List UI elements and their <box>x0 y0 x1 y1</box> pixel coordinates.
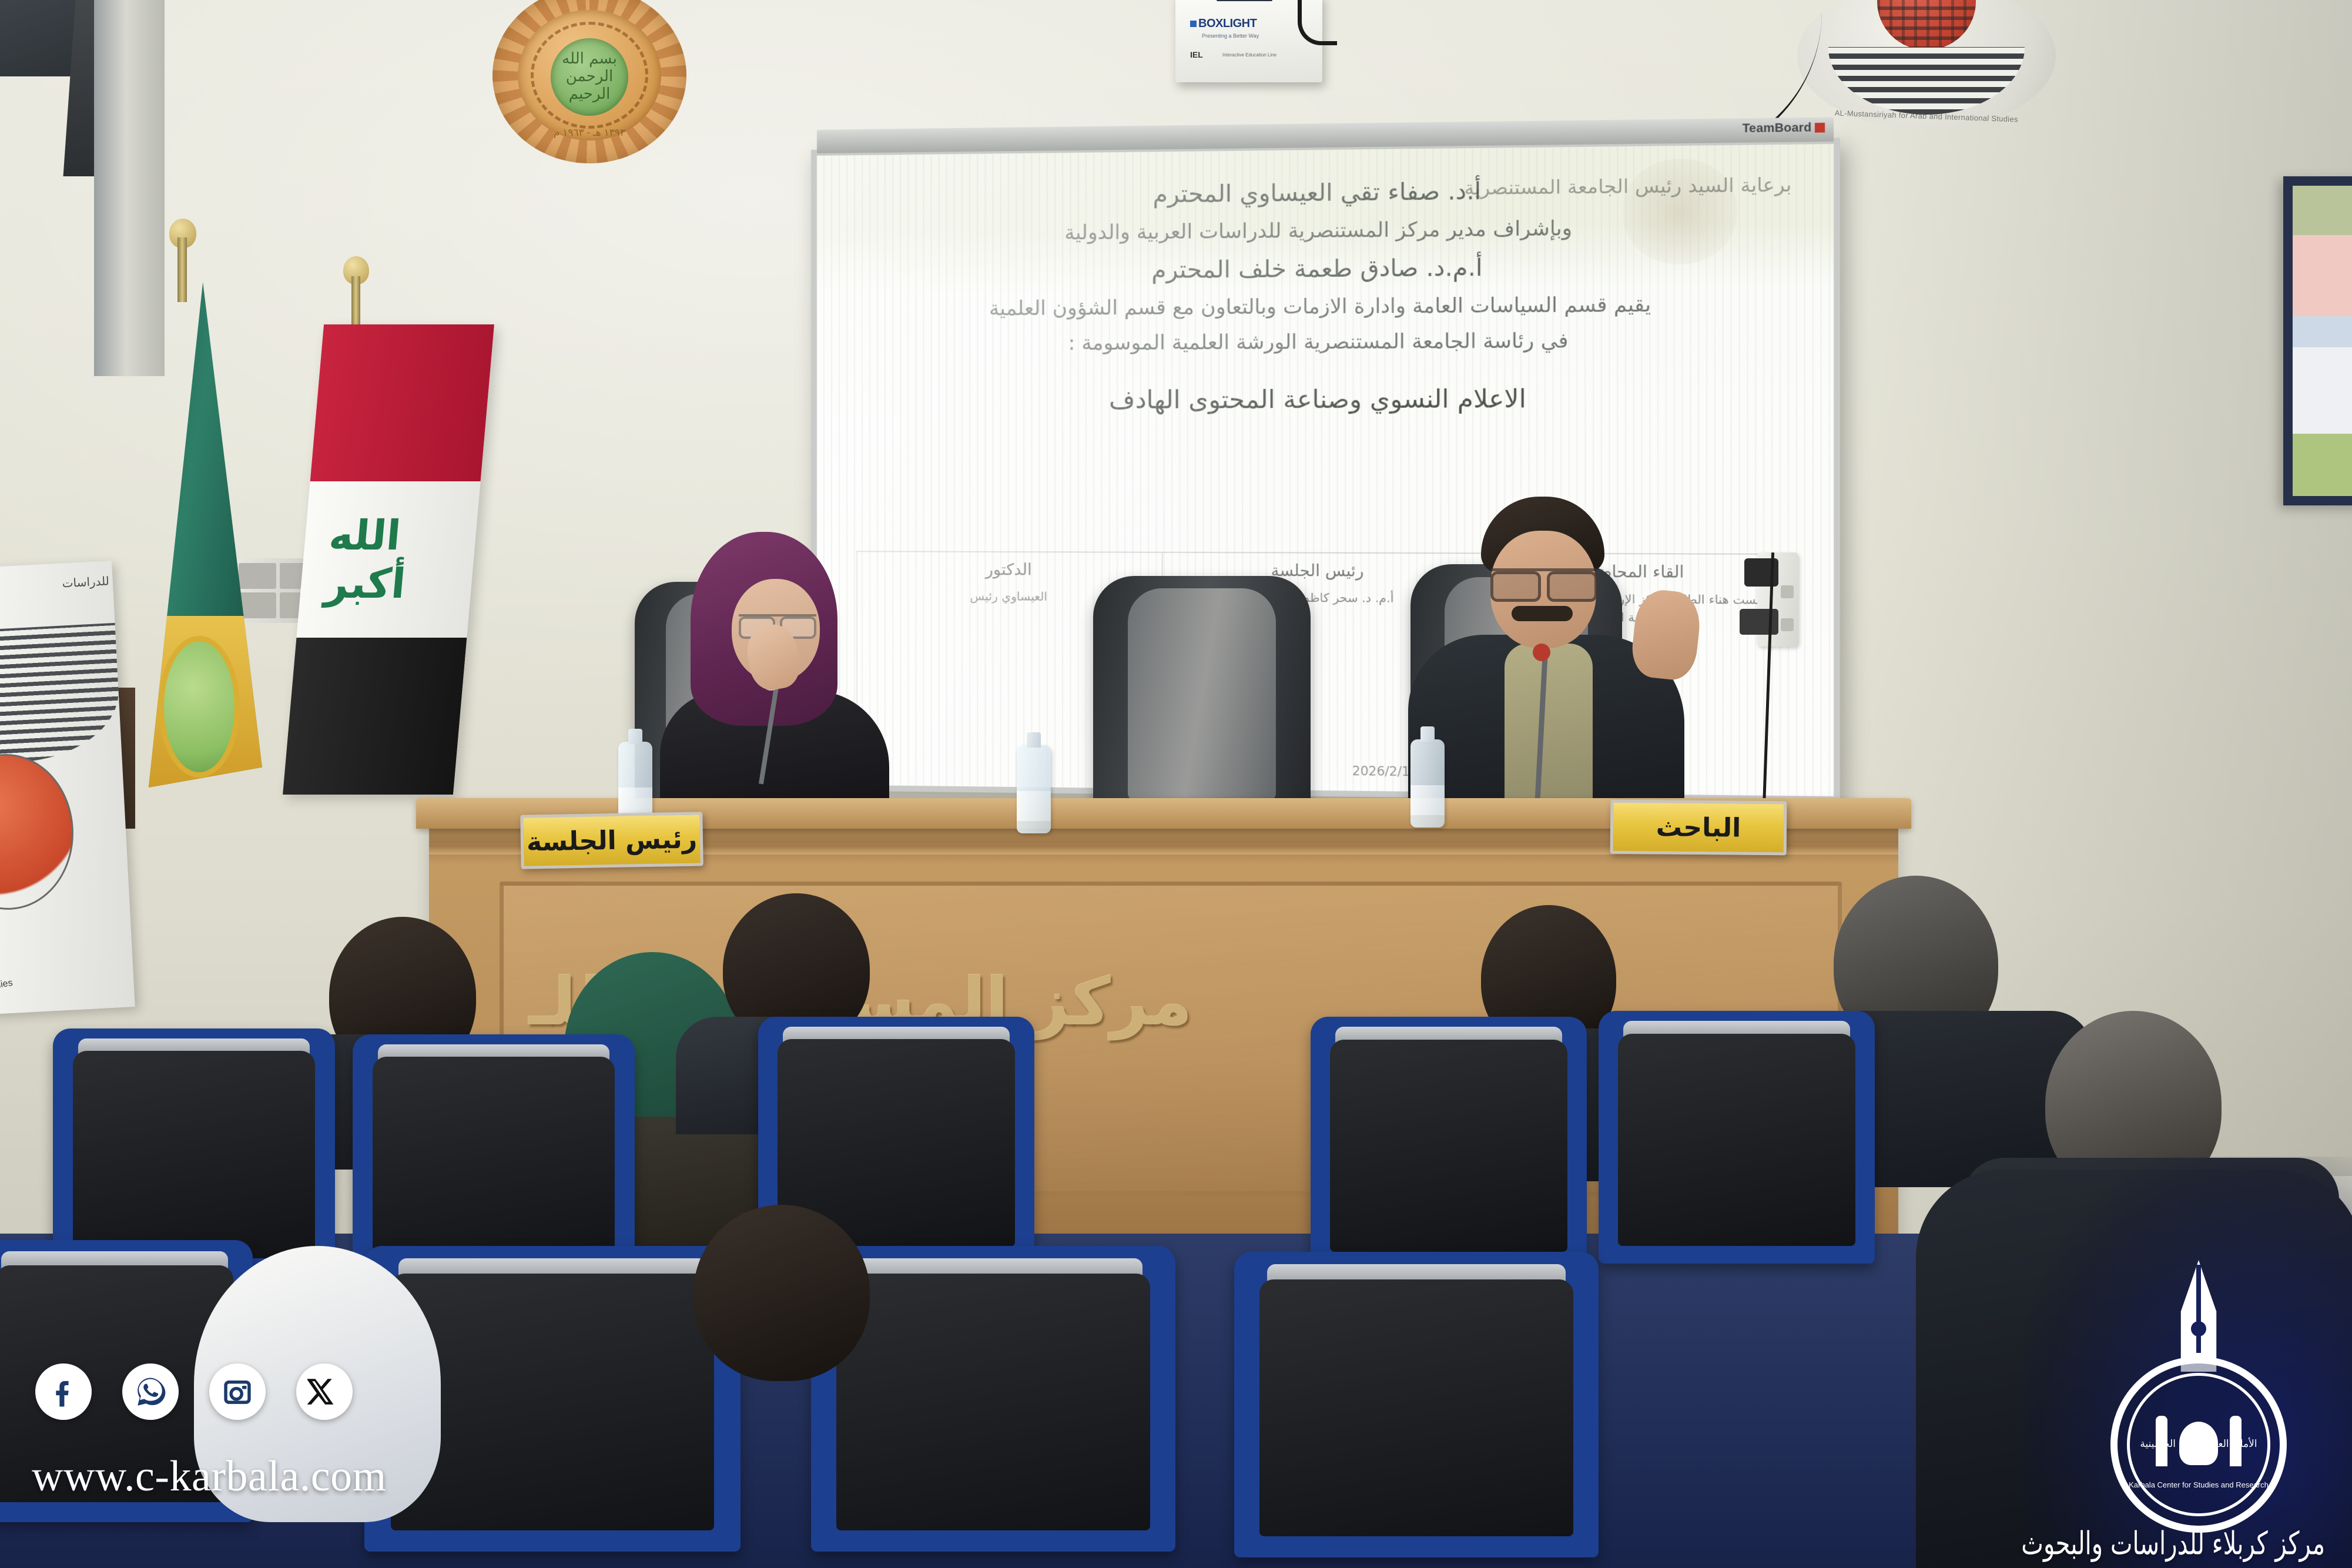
projector-brand-label: BOXLIGHT <box>1198 17 1257 30</box>
auditorium-seat[interactable] <box>1311 1017 1587 1269</box>
flag-stripe-red <box>310 324 494 481</box>
framed-picture <box>2283 176 2352 505</box>
seat-back <box>73 1051 316 1258</box>
allahu-akbar-script: الله أكبر <box>324 519 454 601</box>
logo-seal: الأمانة العامة للعتبة الحسينية المقدسة K… <box>2110 1356 2287 1533</box>
slide-text-block: برعاية السيد رئيس الجامعة المستنصرية أ.د… <box>856 170 1792 424</box>
executive-chair-empty <box>1093 576 1311 823</box>
slide-line-3: أ.م.د. صادق طعمة خلف المحترم <box>856 248 1792 290</box>
projector-vent <box>1217 0 1272 1</box>
light-switch[interactable] <box>239 592 276 618</box>
eyeglasses <box>1490 568 1597 595</box>
mustansiriyah-university-emblem: بسم الله الرحمن الرحيم ١٣٩٣ هـ - ١٩٦٣ م <box>492 0 686 163</box>
pen-nib-slit <box>2196 1265 2201 1353</box>
facebook-icon[interactable] <box>35 1363 92 1420</box>
frame-band <box>2293 434 2352 496</box>
logo-wordmark: مركز كربلاء للدراسات والبحوث <box>2072 1526 2325 1562</box>
projector-secondary-tagline: Interactive Education Line <box>1222 52 1276 58</box>
flag-seal <box>159 636 240 778</box>
website-url[interactable]: www.c-karbala.com <box>32 1452 387 1502</box>
conference-photo: بسم الله الرحمن الرحيم ١٣٩٣ هـ - ١٩٦٣ م … <box>0 0 2352 1568</box>
session-chair-speaker <box>649 532 902 820</box>
pen-nib-dot <box>2191 1321 2206 1336</box>
frame-band <box>2293 316 2352 347</box>
audience-head <box>693 1205 870 1381</box>
slide-line-2: وبإشراف مدير مركز المستنصرية للدراسات ال… <box>856 212 1792 250</box>
seat-back <box>373 1057 615 1264</box>
chair-inner <box>1128 588 1276 800</box>
globe-icon <box>1877 0 1975 50</box>
mustache <box>1512 606 1573 621</box>
nameplate-researcher-label: الباحث <box>1656 812 1741 843</box>
instagram-icon[interactable] <box>209 1363 266 1420</box>
socket-switch[interactable] <box>1781 618 1794 631</box>
auditorium-seat[interactable] <box>53 1028 335 1275</box>
social-media-bar <box>35 1363 353 1420</box>
slide-title: الاعلام النسوي وصناعة المحتوى الهادف <box>856 380 1792 418</box>
gesturing-hand <box>1629 588 1703 682</box>
slide-table-header: الدكتور <box>863 560 1155 579</box>
power-plug <box>1740 609 1778 635</box>
flag-stripe-white: الله أكبر <box>296 481 480 638</box>
projector-tagline: Presenting a Better Way <box>1202 33 1259 39</box>
logo-arabic-inner: الأمانة العامة للعتبة الحسينية المقدسة <box>2127 1438 2270 1462</box>
auditorium-seat[interactable] <box>353 1034 635 1281</box>
projector-brand: BOXLIGHT <box>1190 17 1257 31</box>
emblem-core: بسم الله الرحمن الرحيم <box>551 38 628 116</box>
flagpole <box>177 237 187 302</box>
teamboard-label: TeamBoard <box>1742 121 1811 135</box>
seat-back <box>1618 1034 1855 1246</box>
slide-line-1: أ.د. صفاء تقي العيساوي المحترم <box>856 170 1792 215</box>
logo-english-text: Karbala Center for Studies and Research <box>2127 1480 2270 1489</box>
frame-band <box>2293 347 2352 434</box>
wall-power-socket[interactable] <box>1757 552 1798 646</box>
emblem-year: ١٣٩٣ هـ - ١٩٦٣ م <box>543 127 636 139</box>
karbala-center-logo: الأمانة العامة للعتبة الحسينية المقدسة K… <box>2072 1252 2325 1557</box>
auditorium-seat[interactable] <box>1234 1252 1599 1557</box>
water-bottle <box>1017 745 1051 833</box>
rollup-swoosh <box>0 623 122 768</box>
wall-pillar <box>94 0 165 376</box>
seat-back <box>1259 1279 1573 1536</box>
rollup-banner-arabic: للدراسات <box>62 574 109 590</box>
frame-band <box>2293 235 2352 316</box>
shirt <box>1505 644 1593 820</box>
emblem-core-text: بسم الله الرحمن الرحيم <box>551 51 628 103</box>
al-mustansiriyah-center-globe-logo: AL-Mustansiriyah for Arab and Internatio… <box>1797 0 2056 129</box>
water-bottle <box>1410 739 1445 827</box>
flag-stripe-black <box>283 638 467 795</box>
slide-line-5: في رئاسة الجامعة المستنصرية الورشة العلم… <box>856 326 1792 360</box>
socket-switch[interactable] <box>1781 585 1794 598</box>
microphone-head <box>1533 644 1550 661</box>
seat-back <box>1330 1040 1567 1252</box>
projector-secondary-brand: IEL <box>1190 50 1203 59</box>
slide-line-4: يقيم قسم السياسات العامة وادارة الازمات … <box>856 289 1792 324</box>
x-icon[interactable] <box>296 1363 353 1420</box>
auditorium-seat[interactable] <box>1599 1011 1875 1264</box>
light-switch[interactable] <box>239 563 276 589</box>
teamboard-brand: TeamBoard <box>1742 121 1825 136</box>
frame-band <box>2293 186 2352 235</box>
seat-back <box>836 1274 1150 1530</box>
whatsapp-icon[interactable] <box>122 1363 179 1420</box>
